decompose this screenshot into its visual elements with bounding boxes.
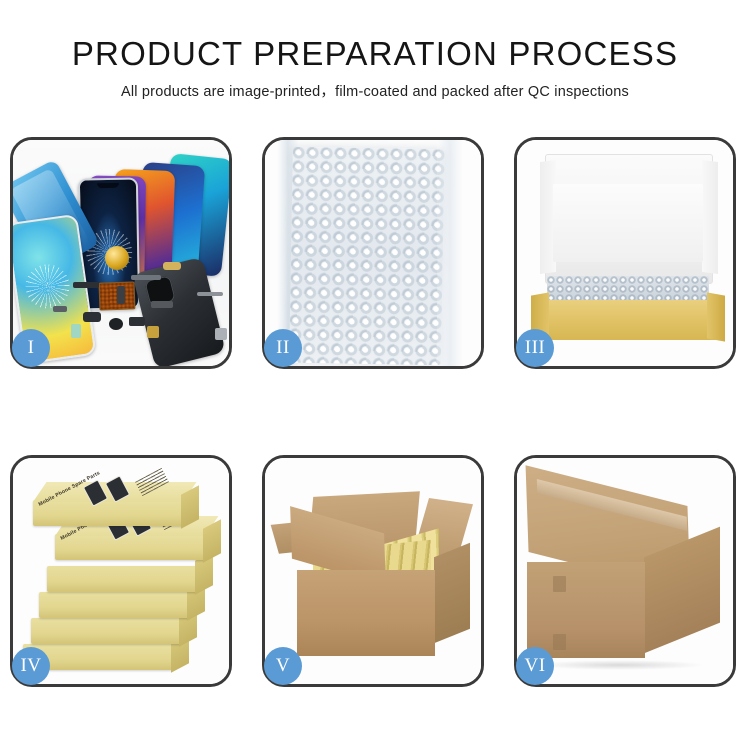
- open-carton-scene: [265, 458, 481, 684]
- vibrator-motor-icon: [109, 318, 123, 330]
- speaker-part-icon: [73, 282, 99, 288]
- step-panel-4[interactable]: Mobile Phone Spare Parts Mobile Phone Sp…: [10, 455, 232, 687]
- page-subtitle: All products are image-printed，film-coat…: [0, 81, 750, 103]
- step-panel-6[interactable]: VI: [514, 455, 736, 687]
- step-panel-2[interactable]: II: [262, 137, 484, 369]
- kraft-box-base: [539, 300, 717, 340]
- carton-seam-tab-top: [553, 576, 566, 592]
- bubble-wrap-sheet: [289, 147, 445, 366]
- inner-box-scene: [517, 140, 733, 366]
- antenna-flex-icon: [151, 301, 173, 308]
- carton-side-panel: [434, 543, 470, 644]
- step-panel-5[interactable]: V: [262, 455, 484, 687]
- step-image-5: [265, 458, 481, 684]
- screw-set-icon: [53, 306, 67, 312]
- page-header: PRODUCT PREPARATION PROCESS All products…: [0, 0, 750, 103]
- screwdriver-icon: [215, 328, 227, 340]
- page-title: PRODUCT PREPARATION PROCESS: [0, 34, 750, 74]
- step-badge-5: V: [264, 647, 302, 685]
- step-badge-6: VI: [516, 647, 554, 685]
- carton-seam-tab-bottom: [553, 634, 566, 650]
- bubble-wrap-scene: [265, 140, 481, 366]
- foam-sheet: [553, 184, 703, 262]
- sealed-carton-scene: [517, 458, 733, 684]
- step-panel-3[interactable]: III: [514, 137, 736, 369]
- box-layer-2: [47, 566, 197, 592]
- process-step-grid: I II III: [10, 137, 742, 687]
- box-layer-1: Mobile Phone Spare Parts: [55, 534, 205, 560]
- step-image-3: [517, 140, 733, 366]
- box-layer-4: [31, 618, 181, 644]
- sim-tray-icon: [71, 324, 81, 338]
- box-stack-scene: Mobile Phone Spare Parts Mobile Phone Sp…: [13, 458, 229, 684]
- box-stack: Mobile Phone Spare Parts Mobile Phone Sp…: [17, 472, 229, 676]
- camera-module-icon: [83, 312, 101, 322]
- flex-cable-icon: [131, 275, 161, 280]
- tweezers-icon: [197, 292, 223, 296]
- step-badge-1: I: [12, 329, 50, 367]
- step-image-6: [517, 458, 733, 684]
- step-image-2: [265, 140, 481, 366]
- phone-parts-scene: [13, 140, 229, 366]
- step-image-4: Mobile Phone Spare Parts Mobile Phone Sp…: [13, 458, 229, 684]
- box-layer-3: [39, 592, 189, 618]
- carton-shadow: [535, 660, 705, 670]
- step-image-1: [13, 140, 229, 366]
- step-badge-3: III: [516, 329, 554, 367]
- step-badge-4: IV: [12, 647, 50, 685]
- battery-connector-icon: [163, 262, 181, 270]
- step-badge-2: II: [264, 329, 302, 367]
- bubble-wrap-right-fold: [437, 140, 463, 366]
- carton-front-face: [527, 562, 645, 658]
- box-layer-top: Mobile Phone Spare Parts: [33, 500, 183, 526]
- carton-front-panel: [297, 570, 435, 656]
- gold-contact-icon: [147, 326, 159, 338]
- button-flex-icon: [117, 286, 125, 304]
- bubble-wrapped-item: [547, 276, 709, 302]
- step-panel-1[interactable]: I: [10, 137, 232, 369]
- connector-part-icon: [129, 317, 145, 326]
- wireless-charging-coil-icon: [105, 246, 129, 270]
